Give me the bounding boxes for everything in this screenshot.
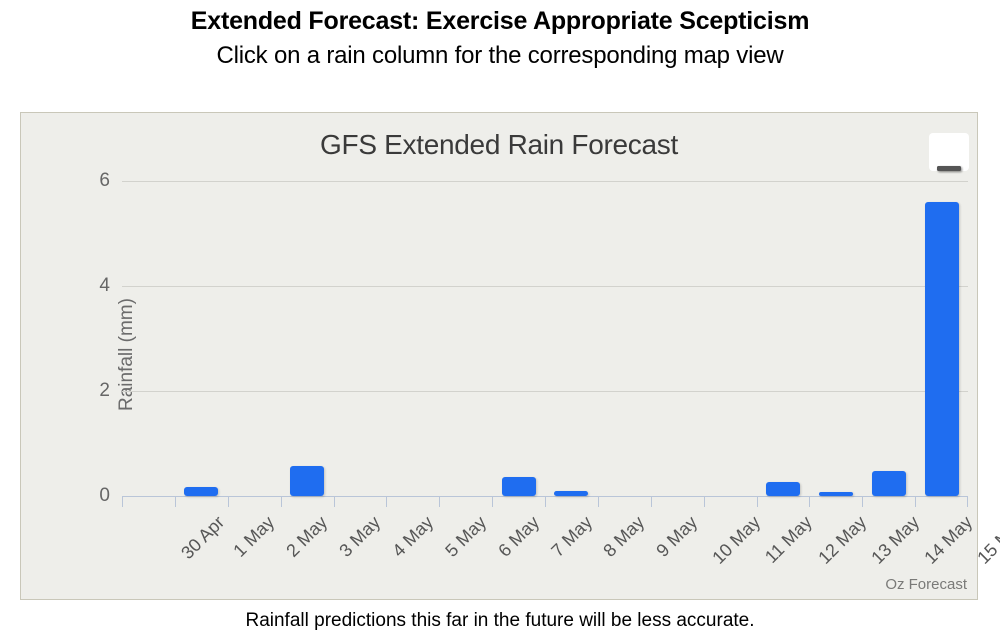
bar-slot [545, 173, 598, 496]
x-axis-tick-label: 30 Apr [178, 512, 230, 564]
plot-area: Rainfall (mm) 0246 30 Apr1 May2 May3 May… [122, 173, 968, 496]
x-axis-tick-label: 12 May [814, 512, 871, 569]
x-axis-tick [228, 496, 229, 507]
y-axis-tick-label: 2 [50, 380, 110, 402]
bar-slot [651, 173, 704, 496]
hamburger-menu-icon[interactable] [929, 133, 969, 171]
x-axis-tick-label: 4 May [388, 512, 438, 562]
bar-slot [122, 173, 175, 496]
x-axis-tick [704, 496, 705, 507]
x-axis-tick [122, 496, 123, 507]
page-root: Extended Forecast: Exercise Appropriate … [0, 0, 1000, 640]
x-axis-tick-label: 3 May [335, 512, 385, 562]
bar-slot [334, 173, 387, 496]
bar-column[interactable] [872, 471, 906, 496]
bar-slot [809, 173, 862, 496]
bar-column[interactable] [184, 487, 218, 496]
y-axis-tick-label: 4 [50, 275, 110, 297]
chart-title: GFS Extended Rain Forecast [21, 129, 977, 161]
x-axis-tick [809, 496, 810, 507]
page-subtitle: Click on a rain column for the correspon… [0, 42, 1000, 70]
bar-slot [492, 173, 545, 496]
x-axis-tick [651, 496, 652, 507]
bar-slot [175, 173, 228, 496]
bar-slot [386, 173, 439, 496]
x-axis-tick-label: 8 May [600, 512, 650, 562]
x-axis-tick-label: 2 May [283, 512, 333, 562]
page-title: Extended Forecast: Exercise Appropriate … [0, 7, 1000, 36]
x-axis-tick [175, 496, 176, 507]
x-axis-tick-label: 10 May [708, 512, 765, 569]
x-axis-tick-label: 15 May [973, 512, 1000, 569]
x-axis-tick [281, 496, 282, 507]
x-axis-tick [439, 496, 440, 507]
chart-credit: Oz Forecast [885, 576, 967, 593]
x-axis-tick [386, 496, 387, 507]
x-axis-tick-label: 14 May [920, 512, 977, 569]
bar-column[interactable] [766, 482, 800, 496]
x-axis-tick-label: 13 May [867, 512, 924, 569]
bar-column[interactable] [502, 477, 536, 496]
footer-note: Rainfall predictions this far in the fut… [0, 610, 1000, 632]
x-axis-tick [862, 496, 863, 507]
x-axis-tick [334, 496, 335, 507]
chart-panel: GFS Extended Rain Forecast Rainfall (mm)… [20, 112, 978, 600]
bar-slot [704, 173, 757, 496]
x-axis-tick-label: 1 May [230, 512, 280, 562]
hamburger-bar [937, 166, 961, 171]
bar-slot [439, 173, 492, 496]
bar-column[interactable] [290, 466, 324, 496]
x-axis-tick-label: 11 May [761, 512, 817, 568]
y-axis-tick-label: 0 [50, 485, 110, 507]
bar-slot [915, 173, 968, 496]
x-axis-tick-label: 5 May [441, 512, 491, 562]
y-axis-tick-label: 6 [50, 170, 110, 192]
bar-column[interactable] [819, 492, 853, 496]
x-axis-tick [915, 496, 916, 507]
x-axis-tick [492, 496, 493, 507]
bar-slot [757, 173, 810, 496]
bar-column[interactable] [925, 202, 959, 496]
bar-slot [862, 173, 915, 496]
x-axis-tick [598, 496, 599, 507]
x-axis-tick [545, 496, 546, 507]
x-axis-tick [967, 496, 968, 507]
x-axis-tick-label: 7 May [547, 512, 597, 562]
bar-slot [228, 173, 281, 496]
bar-slot [281, 173, 334, 496]
bar-slot [598, 173, 651, 496]
x-axis-tick-label: 9 May [653, 512, 703, 562]
x-axis-tick-label: 6 May [494, 512, 544, 562]
bar-column[interactable] [554, 491, 588, 496]
x-axis-tick [757, 496, 758, 507]
